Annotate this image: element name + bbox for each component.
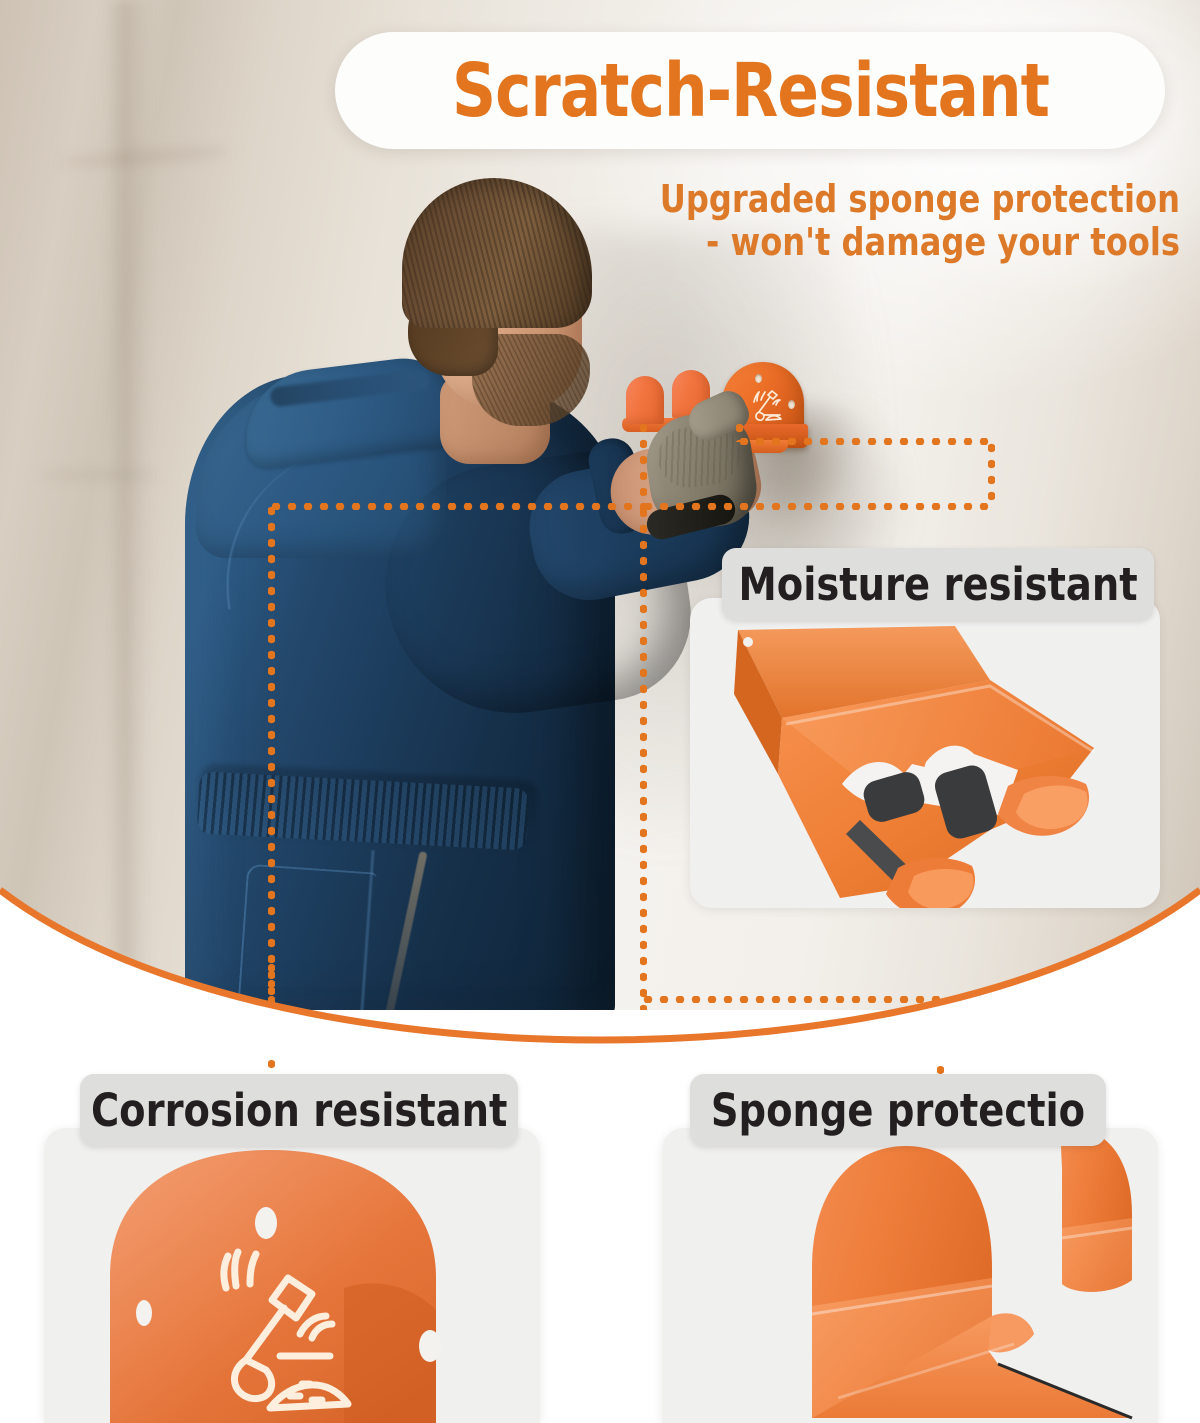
connector-dotted-line xyxy=(640,420,647,510)
head xyxy=(380,178,590,428)
infographic-root: Scratch-Resistant Upgraded sponge protec… xyxy=(0,0,1200,1423)
feature-label-corrosion: Corrosion resistant xyxy=(91,1084,507,1137)
feature-label-moisture: Moisture resistant xyxy=(738,558,1137,611)
feature-label-sponge: Sponge protectio xyxy=(711,1084,1085,1137)
screw-hole xyxy=(755,374,762,383)
orange-hook-prongs-icon xyxy=(662,1128,1158,1423)
feature-card-sponge xyxy=(662,1128,1158,1423)
connector-dotted-line xyxy=(736,438,992,445)
connector-dotted-line xyxy=(268,503,646,510)
dome-plate-with-logo-icon xyxy=(44,1128,540,1423)
feature-badge-corrosion: Corrosion resistant xyxy=(80,1074,518,1146)
bracket-with-sponge-pads-icon xyxy=(690,598,1160,908)
connector-dotted-line xyxy=(988,440,995,508)
screw-hole xyxy=(788,400,795,409)
subtitle-line-1: Upgraded sponge protection xyxy=(635,178,1180,221)
title-pill: Scratch-Resistant xyxy=(335,32,1165,149)
feature-badge-moisture: Moisture resistant xyxy=(722,548,1154,620)
page-title: Scratch-Resistant xyxy=(451,48,1048,134)
subtitle-line-2: - won't damage your tools xyxy=(635,221,1180,264)
feature-badge-sponge: Sponge protectio xyxy=(690,1074,1106,1146)
connector-dotted-line xyxy=(736,420,743,442)
feature-card-moisture xyxy=(690,598,1160,908)
subtitle: Upgraded sponge protection - won't damag… xyxy=(600,178,1180,264)
hair xyxy=(402,178,592,328)
feature-card-corrosion xyxy=(44,1128,540,1423)
wall-texture-mark xyxy=(40,470,160,480)
work-glove-icon xyxy=(638,390,768,550)
connector-dotted-line xyxy=(640,503,992,510)
